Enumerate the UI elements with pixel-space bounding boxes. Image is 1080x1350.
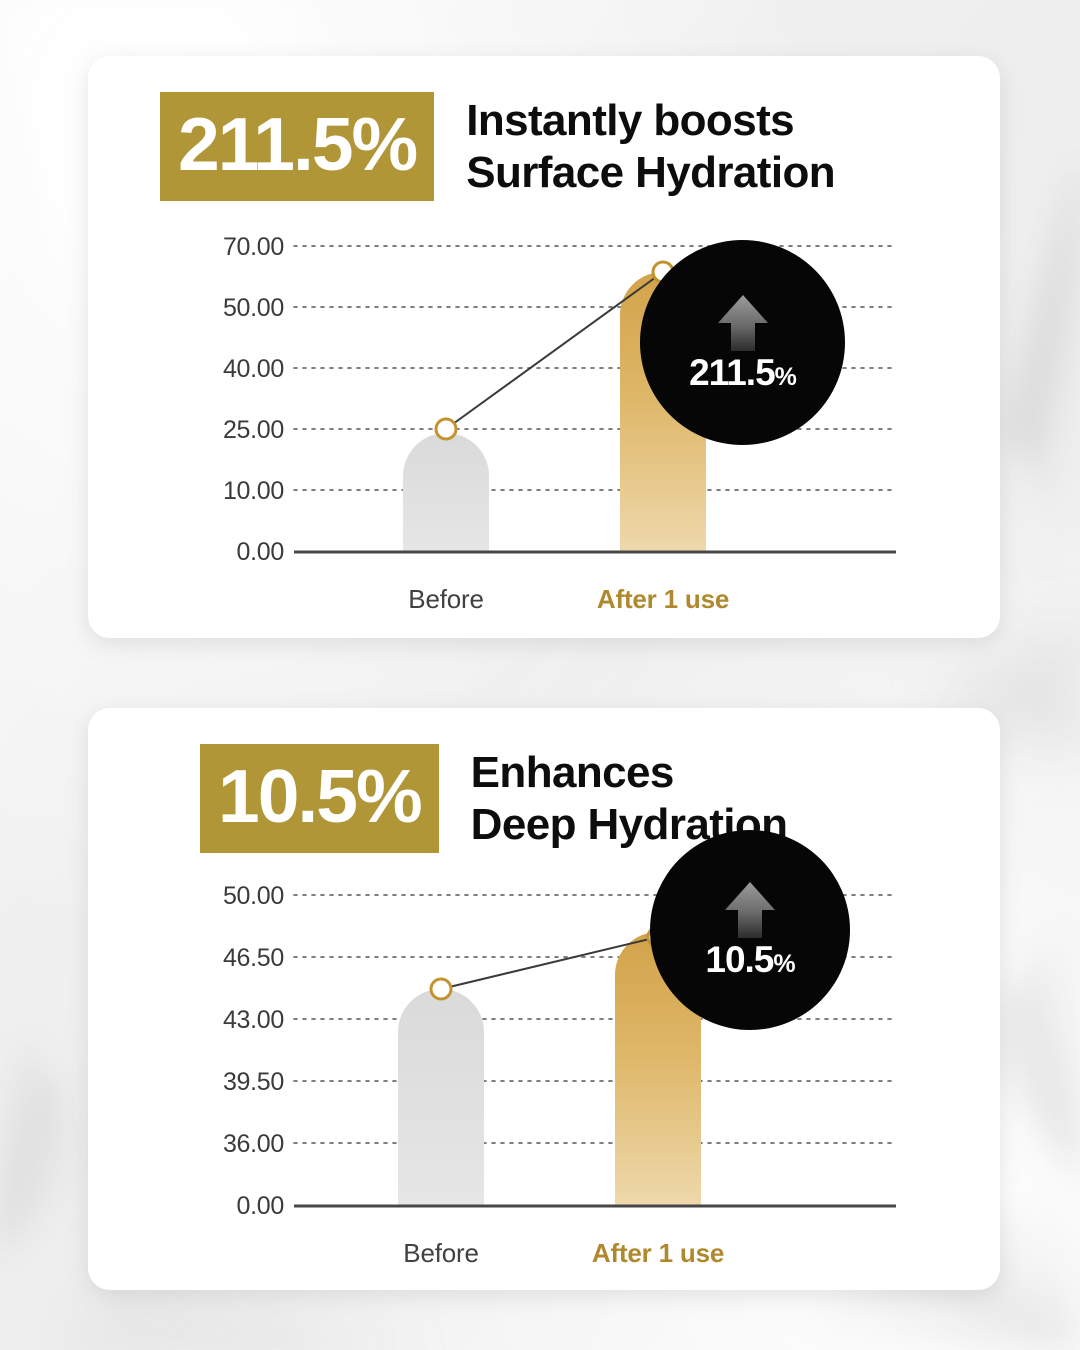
y-tick-label: 50.00 — [174, 882, 284, 911]
kpi-number: 211.5 — [689, 352, 775, 393]
kpi-value: 211.5% — [689, 354, 796, 391]
marker-before — [436, 419, 456, 439]
x-tick-label-after: After 1 use — [558, 1238, 758, 1269]
y-tick-label: 70.00 — [174, 233, 284, 262]
y-tick-label: 10.00 — [174, 477, 284, 506]
chart-deep-hydration: 50.00 46.50 43.00 39.50 36.00 0.00 Befor… — [88, 708, 1000, 1290]
marker-before — [431, 979, 451, 999]
x-tick-label-before: Before — [341, 1238, 541, 1269]
y-tick-label: 0.00 — [174, 538, 284, 567]
kpi-badge-increase: 211.5% — [640, 240, 845, 445]
kpi-value: 10.5% — [705, 941, 794, 978]
x-tick-label-after: After 1 use — [563, 584, 763, 615]
x-tick-label-before: Before — [346, 584, 546, 615]
y-tick-label: 50.00 — [174, 294, 284, 323]
y-tick-label: 43.00 — [174, 1006, 284, 1035]
up-arrow-icon — [723, 882, 777, 938]
y-tick-label: 36.00 — [174, 1130, 284, 1159]
kpi-unit: % — [773, 950, 794, 978]
bar-before — [403, 433, 489, 551]
y-tick-label: 40.00 — [174, 355, 284, 384]
kpi-unit: % — [775, 363, 796, 391]
up-arrow-icon — [716, 295, 770, 351]
y-tick-label: 39.50 — [174, 1068, 284, 1097]
y-tick-label: 0.00 — [174, 1192, 284, 1221]
kpi-number: 10.5 — [705, 939, 773, 980]
y-tick-label: 25.00 — [174, 416, 284, 445]
chart-surface-hydration: 70.00 50.00 40.00 25.00 10.00 0.00 Befor… — [88, 56, 1000, 638]
y-tick-label: 46.50 — [174, 944, 284, 973]
stat-card-surface-hydration: 211.5% Instantly boosts Surface Hydratio… — [88, 56, 1000, 638]
stat-card-deep-hydration: 10.5% Enhances Deep Hydration — [88, 708, 1000, 1290]
kpi-badge-increase: 10.5% — [650, 830, 850, 1030]
bar-before — [398, 989, 484, 1205]
